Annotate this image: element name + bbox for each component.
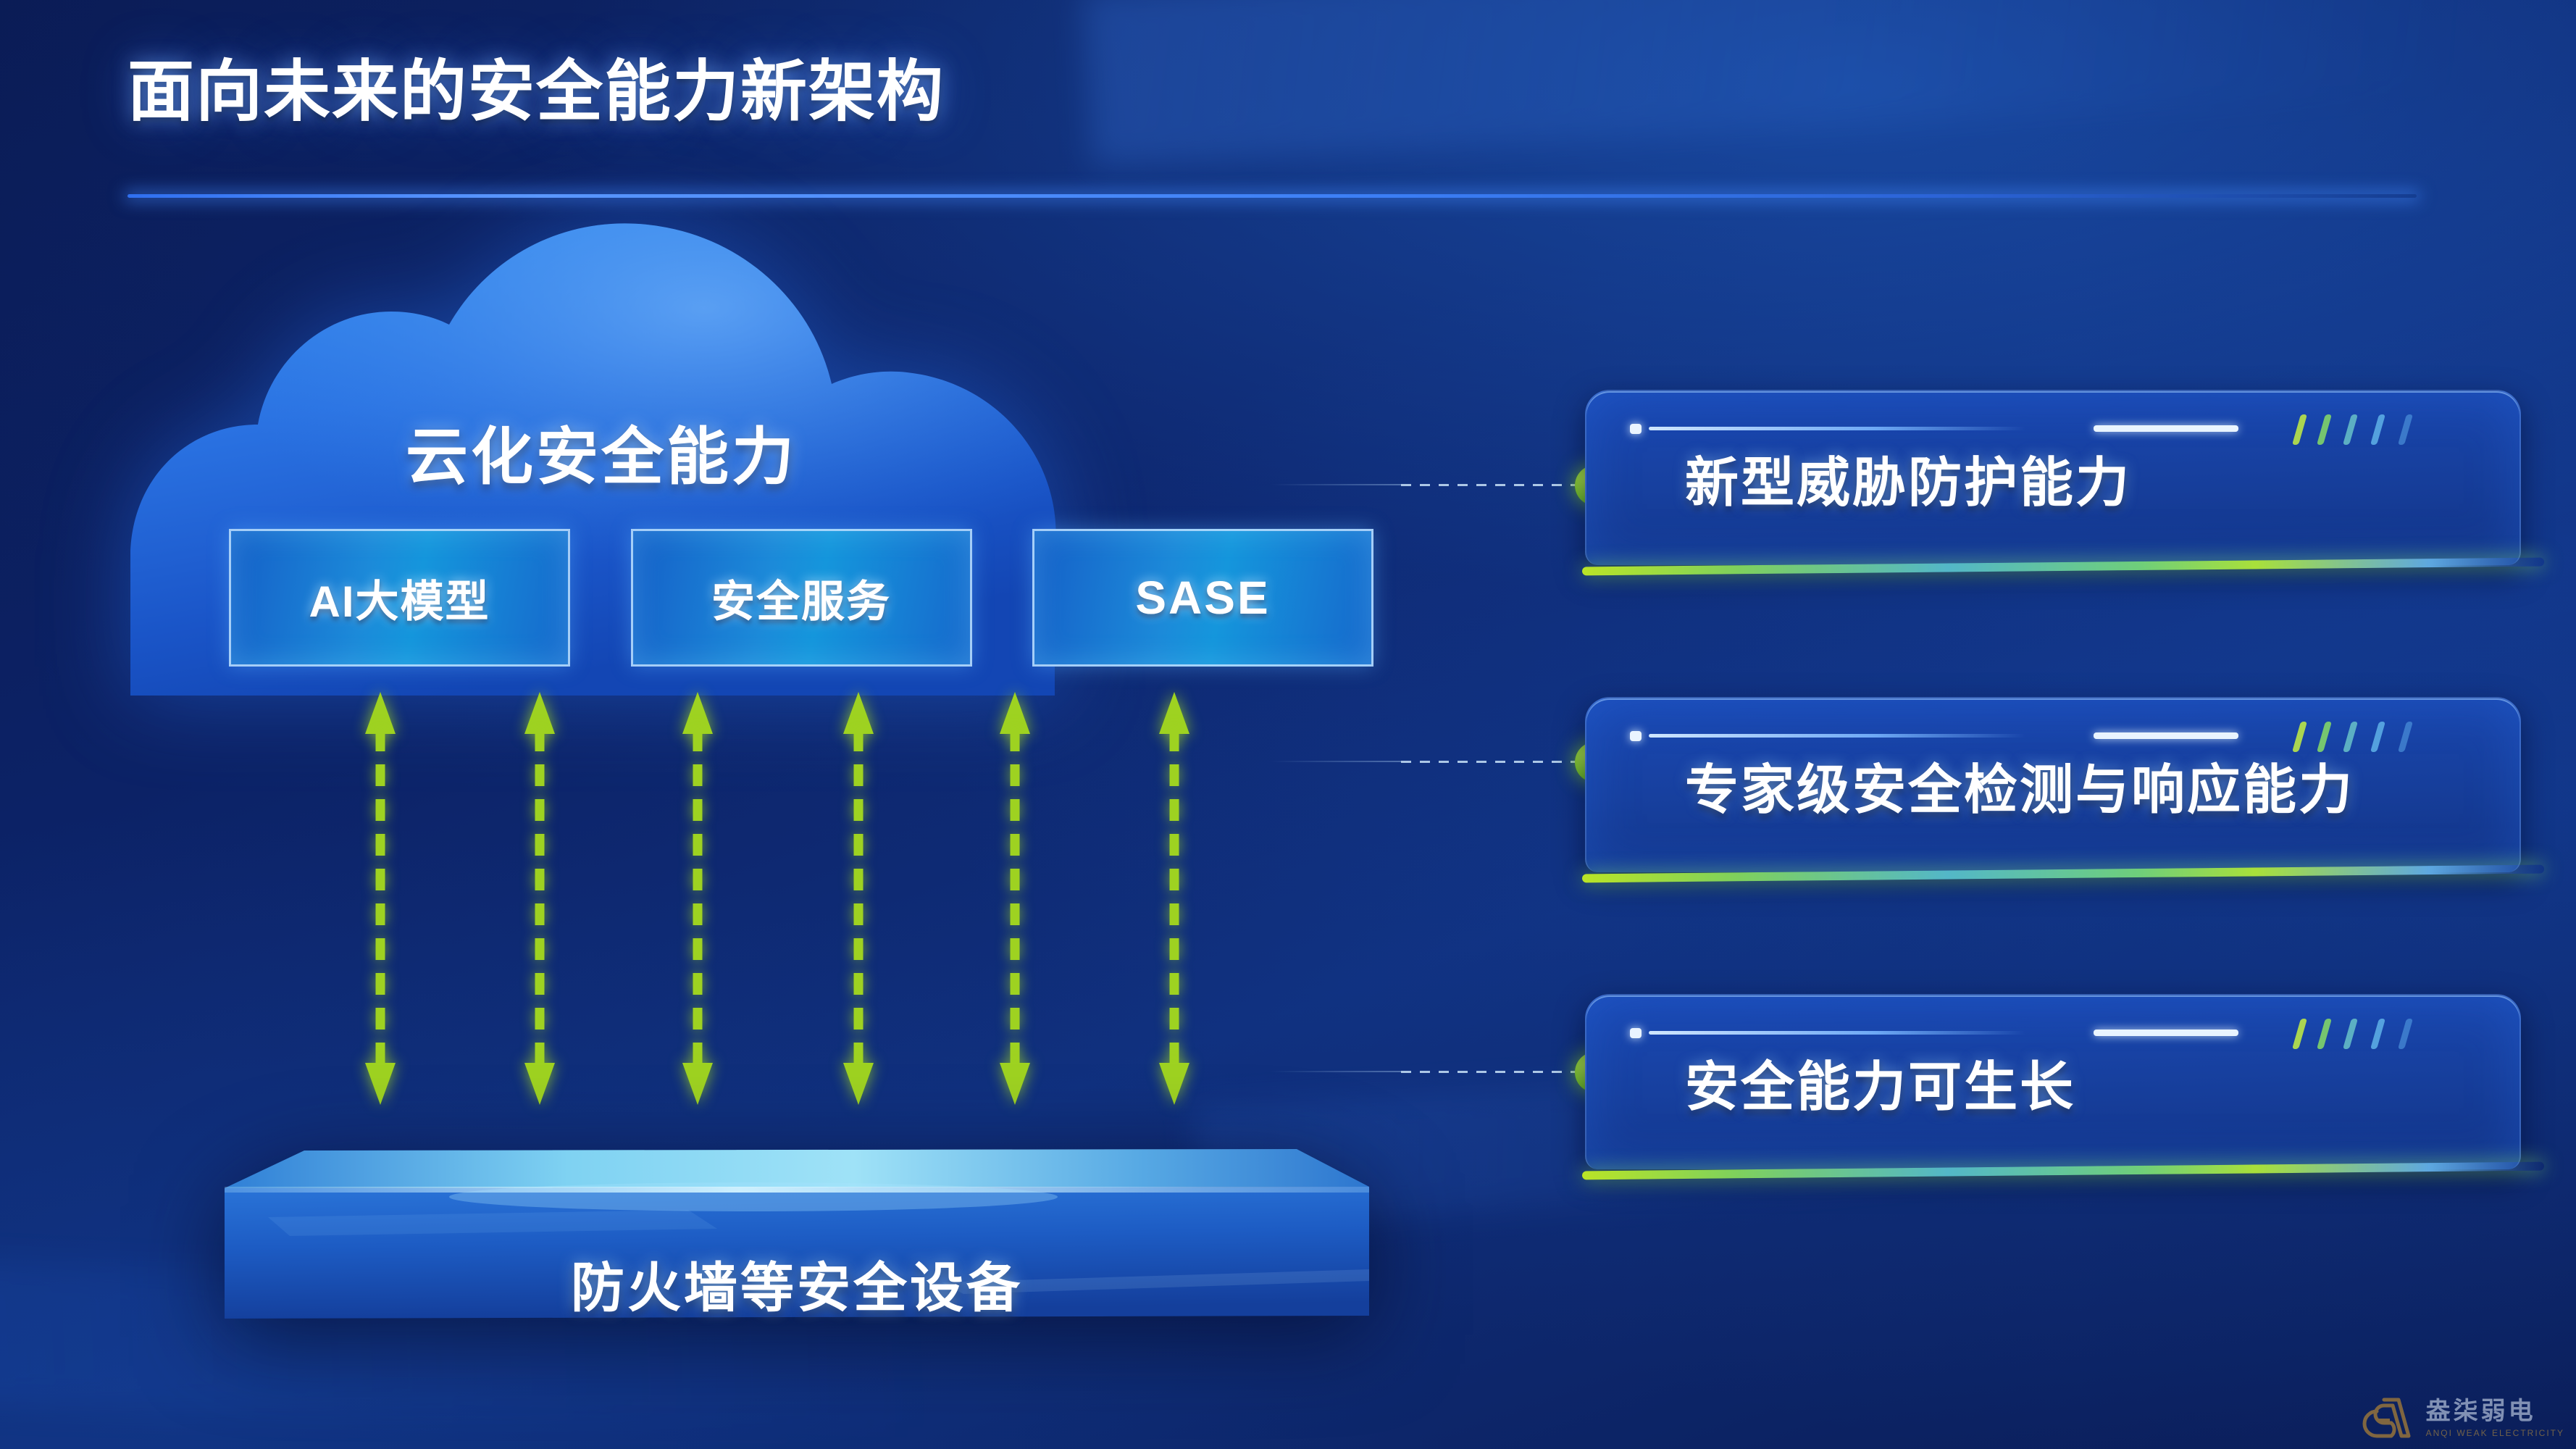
arrow-head-down-icon <box>682 1063 713 1105</box>
arrow-head-down-icon <box>843 1063 874 1105</box>
card-dot-icon <box>1630 731 1642 741</box>
card-line-icon <box>1649 734 2025 738</box>
arrow-head-up-icon <box>524 692 555 734</box>
feature-card-3[interactable]: 安全能力可生长 <box>1585 994 2521 1169</box>
watermark-text: 盎柒弱电 ANQI WEAK ELECTRICITY <box>2426 1399 2564 1437</box>
card-ticks-icon <box>2296 414 2441 446</box>
card-decoration <box>1630 730 2427 742</box>
flow-arrows-group <box>0 692 1449 1105</box>
connector-3 <box>1398 1051 1615 1094</box>
arrow-shaft <box>1011 730 1020 1067</box>
flow-arrow-3 <box>688 692 707 1105</box>
arrow-head-up-icon <box>843 692 874 734</box>
arrow-shaft <box>854 730 863 1067</box>
watermark-logo-icon <box>2362 1395 2416 1440</box>
arrow-shaft <box>535 730 545 1067</box>
slide-canvas: 面向未来的安全能力新架构 云化安全能力 AI大模型 安全服 <box>0 0 2576 1449</box>
card-decoration <box>1630 1027 2427 1039</box>
capability-box-sase[interactable]: SASE <box>1032 529 1373 667</box>
connector-wire <box>1401 484 1582 486</box>
arrow-head-down-icon <box>1000 1063 1030 1105</box>
connector-wire <box>1401 1071 1582 1073</box>
platform-group: 防火墙等安全设备 <box>181 1101 1413 1377</box>
capability-box-ai[interactable]: AI大模型 <box>229 529 570 667</box>
feature-card-2-label: 专家级安全检测与响应能力 <box>1685 747 2354 824</box>
arrow-head-up-icon <box>365 692 396 734</box>
title-divider <box>127 194 2417 198</box>
capability-row: AI大模型 安全服务 SASE <box>229 529 1373 667</box>
connector-2 <box>1398 740 1615 784</box>
connector-1 <box>1398 464 1615 507</box>
arrow-head-down-icon <box>524 1063 555 1105</box>
card-bar-icon <box>2094 425 2238 432</box>
card-line-icon <box>1649 427 2025 430</box>
connector-wire <box>1401 761 1582 763</box>
feature-card-1-label: 新型威胁防护能力 <box>1685 440 2131 517</box>
flow-arrow-5 <box>1005 692 1024 1105</box>
arrow-shaft <box>376 730 385 1067</box>
connector-tail <box>1271 484 1401 485</box>
feature-card-2[interactable]: 专家级安全检测与响应能力 <box>1585 697 2521 872</box>
card-decoration <box>1630 423 2427 435</box>
flow-arrow-4 <box>849 692 868 1105</box>
cloud-group: 云化安全能力 AI大模型 安全服务 SASE <box>87 217 1521 710</box>
watermark: 盎柒弱电 ANQI WEAK ELECTRICITY <box>2362 1395 2564 1440</box>
capability-box-security-service[interactable]: 安全服务 <box>631 529 972 667</box>
card-bar-icon <box>2094 732 2238 739</box>
arrow-head-down-icon <box>1159 1063 1189 1105</box>
background-streak-top <box>1083 0 2467 167</box>
watermark-name-cn: 盎柒弱电 <box>2426 1399 2564 1424</box>
card-dot-icon <box>1630 424 1642 434</box>
arrow-head-up-icon <box>682 692 713 734</box>
page-title: 面向未来的安全能力新架构 <box>127 38 945 134</box>
feature-card-1[interactable]: 新型威胁防护能力 <box>1585 390 2521 565</box>
arrow-head-up-icon <box>1159 692 1189 734</box>
arrow-shaft <box>1170 730 1179 1067</box>
card-bar-icon <box>2094 1030 2238 1036</box>
arrow-head-up-icon <box>1000 692 1030 734</box>
card-ticks-icon <box>2296 1019 2441 1051</box>
connector-tail <box>1271 761 1401 762</box>
platform-shape <box>181 1101 1413 1377</box>
arrow-head-down-icon <box>365 1063 396 1105</box>
arrow-shaft <box>693 730 703 1067</box>
feature-card-3-label: 安全能力可生长 <box>1685 1044 2075 1122</box>
flow-arrow-6 <box>1165 692 1184 1105</box>
flow-arrow-1 <box>371 692 390 1105</box>
card-line-icon <box>1649 1031 2025 1035</box>
watermark-name-en: ANQI WEAK ELECTRICITY <box>2426 1429 2564 1437</box>
flow-arrow-2 <box>530 692 549 1105</box>
card-dot-icon <box>1630 1028 1642 1038</box>
connector-tail <box>1271 1071 1401 1072</box>
